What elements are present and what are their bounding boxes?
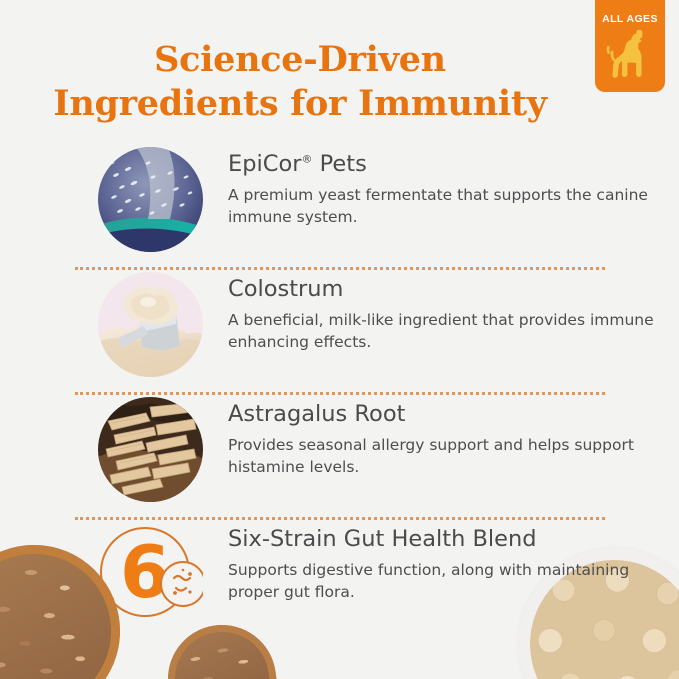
page-title: Science-Driven Ingredients for Immunity (0, 38, 600, 127)
ingredient-thumbnail-wrap (98, 397, 203, 502)
list-item: Colostrum A beneficial, milk-like ingred… (0, 270, 679, 395)
ingredient-text: Six-Strain Gut Health Blend Supports dig… (228, 520, 679, 603)
ingredient-name: Colostrum (228, 277, 679, 302)
ingredient-thumbnail-wrap: 6 (98, 522, 203, 627)
six-probiotic-strains-icon: 6 (98, 522, 203, 627)
ingredient-name-suffix: Pets (312, 151, 366, 177)
ingredient-thumbnail-wrap (98, 272, 203, 377)
page-title-line-1: Science-Driven (0, 38, 600, 82)
ingredient-name-main: EpiCor (228, 151, 301, 177)
ingredients-infographic: ALL AGES Science-Driven Ingredients for … (0, 0, 679, 679)
list-item: 6 S (0, 520, 679, 645)
sitting-dog-icon (604, 28, 656, 84)
astragalus-root-slices-photo (98, 397, 203, 502)
ingredient-text: Astragalus Root Provides seasonal allerg… (228, 395, 679, 478)
petri-dish-bacteria-photo (98, 147, 203, 252)
page-title-line-2: Ingredients for Immunity (0, 82, 600, 126)
ingredient-name: Astragalus Root (228, 402, 679, 427)
list-item: Astragalus Root Provides seasonal allerg… (0, 395, 679, 520)
ingredient-description: A beneficial, milk-like ingredient that … (228, 309, 679, 353)
ingredient-thumbnail-wrap (98, 147, 203, 252)
ingredient-text: Colostrum A beneficial, milk-like ingred… (228, 270, 679, 353)
all-ages-badge-label: ALL AGES (602, 13, 658, 25)
ingredient-name: Six-Strain Gut Health Blend (228, 527, 679, 552)
all-ages-badge: ALL AGES (595, 0, 665, 92)
ingredient-text: EpiCor® Pets A premium yeast fermentate … (228, 145, 679, 228)
ingredient-description: Provides seasonal allergy support and he… (228, 434, 679, 478)
ingredients-list: EpiCor® Pets A premium yeast fermentate … (0, 145, 679, 645)
registered-trademark-icon: ® (301, 153, 312, 166)
ingredient-description: A premium yeast fermentate that supports… (228, 184, 679, 228)
milk-powder-scoop-photo (98, 272, 203, 377)
ingredient-name: EpiCor® Pets (228, 152, 679, 177)
six-number-glyph: 6 (120, 530, 170, 614)
list-item: EpiCor® Pets A premium yeast fermentate … (0, 145, 679, 270)
ingredient-description: Supports digestive function, along with … (228, 559, 679, 603)
